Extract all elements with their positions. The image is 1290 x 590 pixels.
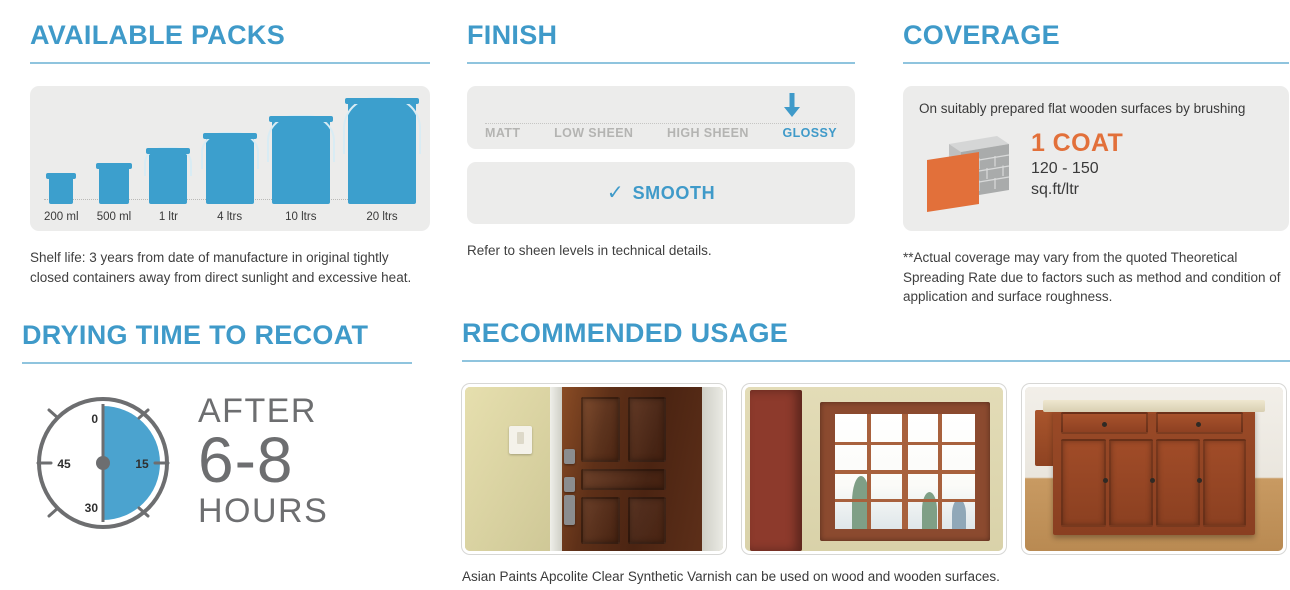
svg-text:0: 0: [91, 412, 98, 426]
bucket-lip: [46, 173, 76, 179]
bucket-icon: [99, 166, 129, 204]
product-spec-sheet: AVAILABLE PACKS 200 ml500 ml1 ltr4 ltrs1…: [0, 0, 1290, 590]
bucket-lip: [269, 116, 333, 122]
bucket-lip: [345, 98, 419, 104]
bucket-lip: [146, 148, 190, 154]
drying-time-body: 0 15 30 45 AFTER 6-8 HOURS: [22, 388, 412, 538]
pack-size-item: 4 ltrs: [206, 94, 254, 223]
pack-size-label: 4 ltrs: [217, 211, 242, 223]
drying-time-section: DRYING TIME TO RECOAT: [22, 322, 412, 538]
pack-size-label: 1 ltr: [159, 211, 178, 223]
drying-hours-value: 6-8: [198, 428, 328, 493]
bucket-body: [348, 101, 416, 204]
finish-section: FINISH MATTLOW SHEENHIGH SHEENGLOSSY ✓ S…: [467, 22, 855, 261]
svg-text:30: 30: [85, 501, 99, 515]
finish-title: FINISH: [467, 22, 855, 49]
bucket-icon: [149, 151, 187, 204]
coverage-unit: sq.ft/ltr: [1031, 181, 1123, 199]
coverage-disclaimer-note: **Actual coverage may vary from the quot…: [903, 248, 1289, 307]
svg-text:45: 45: [57, 457, 71, 471]
bucket-icon: [348, 101, 416, 204]
window-photo: [745, 387, 1003, 551]
section-divider: [30, 62, 430, 64]
brick-wall-icon: [919, 128, 1015, 214]
coverage-values: 1 COAT 120 - 150 sq.ft/ltr: [1031, 128, 1123, 200]
sheen-level-high-sheen[interactable]: HIGH SHEEN: [667, 126, 749, 140]
pack-size-item: 200 ml: [44, 94, 79, 223]
pack-size-label: 20 ltrs: [366, 211, 397, 223]
recommended-usage-section: RECOMMENDED USAGE: [462, 320, 1290, 584]
texture-panel: ✓ SMOOTH: [467, 162, 855, 224]
sheen-level-row: MATTLOW SHEENHIGH SHEENGLOSSY: [485, 126, 837, 140]
coverage-panel: On suitably prepared flat wooden surface…: [903, 86, 1289, 231]
pack-size-item: 1 ltr: [149, 94, 187, 223]
svg-text:15: 15: [135, 457, 149, 471]
drying-time-title: DRYING TIME TO RECOAT: [22, 322, 412, 349]
bucket-body: [49, 176, 73, 204]
check-icon: ✓: [607, 183, 624, 203]
section-divider: [467, 62, 855, 64]
pack-size-item: 20 ltrs: [348, 94, 416, 223]
bucket-lip: [203, 133, 257, 139]
coverage-section: COVERAGE On suitably prepared flat woode…: [903, 22, 1289, 307]
cabinet-photo: [1025, 387, 1283, 551]
bucket-handle: [267, 115, 335, 162]
pack-size-item: 500 ml: [97, 94, 132, 223]
drying-hours-label: HOURS: [198, 494, 328, 528]
section-divider: [903, 62, 1289, 64]
section-divider: [462, 360, 1290, 362]
pack-size-label: 500 ml: [97, 211, 132, 223]
coverage-lead-text: On suitably prepared flat wooden surface…: [919, 100, 1273, 118]
available-packs-title: AVAILABLE PACKS: [30, 22, 430, 49]
light-switch: [509, 426, 532, 454]
sheen-level-low-sheen[interactable]: LOW SHEEN: [554, 126, 633, 140]
sheen-dotted-scale: [485, 123, 837, 124]
bucket-icon: [206, 136, 254, 204]
drying-after-label: AFTER: [198, 394, 328, 428]
door-photo: [465, 387, 723, 551]
bucket-body: [149, 151, 187, 204]
bucket-lip: [96, 163, 132, 169]
pack-size-label: 200 ml: [44, 211, 79, 223]
pack-size-item: 10 ltrs: [272, 94, 330, 223]
shelf-life-note: Shelf life: 3 years from date of manufac…: [30, 248, 430, 287]
bucket-handle: [343, 97, 421, 154]
coverage-range: 120 - 150: [1031, 160, 1123, 178]
coverage-body: 1 COAT 120 - 150 sq.ft/ltr: [919, 128, 1273, 214]
coverage-title: COVERAGE: [903, 22, 1289, 49]
usage-caption: Asian Paints Apcolite Clear Synthetic Va…: [462, 569, 1290, 584]
clock-icon: 0 15 30 45: [22, 388, 184, 538]
available-packs-section: AVAILABLE PACKS 200 ml500 ml1 ltr4 ltrs1…: [30, 22, 430, 287]
section-divider: [22, 362, 412, 364]
packs-bucket-row: 200 ml500 ml1 ltr4 ltrs10 ltrs20 ltrs: [44, 94, 416, 223]
packs-chart-panel: 200 ml500 ml1 ltr4 ltrs10 ltrs20 ltrs: [30, 86, 430, 231]
bucket-body: [206, 136, 254, 204]
bucket-icon: [272, 119, 330, 204]
usage-image-grid: [462, 384, 1290, 554]
bucket-body: [272, 119, 330, 204]
coverage-coats: 1 COAT: [1031, 130, 1123, 158]
pack-size-label: 10 ltrs: [285, 211, 316, 223]
sheen-level-glossy[interactable]: GLOSSY: [783, 126, 838, 140]
sheen-reference-note: Refer to sheen levels in technical detai…: [467, 241, 855, 261]
bucket-icon: [49, 176, 73, 204]
usage-image-cabinet: [1022, 384, 1286, 554]
usage-image-window: [742, 384, 1006, 554]
recommended-usage-title: RECOMMENDED USAGE: [462, 320, 1290, 347]
bucket-body: [99, 166, 129, 204]
sheen-scale-panel: MATTLOW SHEENHIGH SHEENGLOSSY: [467, 86, 855, 149]
sheen-level-matt[interactable]: MATT: [485, 126, 520, 140]
usage-image-door: [462, 384, 726, 554]
texture-label: SMOOTH: [633, 183, 716, 204]
drying-time-text: AFTER 6-8 HOURS: [198, 394, 328, 531]
arrow-down-icon: [779, 92, 805, 124]
